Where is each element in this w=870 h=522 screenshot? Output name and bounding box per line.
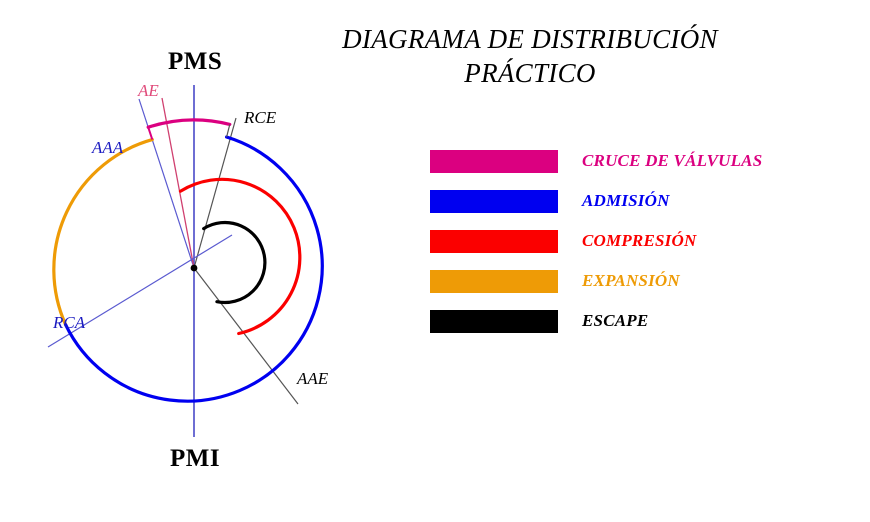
label-rca: RCA: [53, 313, 85, 333]
legend-row: ESCAPE: [430, 310, 830, 350]
label-rce: RCE: [244, 108, 276, 128]
legend-swatch-expansion: [430, 270, 558, 293]
legend-label-compresion: COMPRESIÓN: [582, 229, 696, 252]
legend-label-admision: ADMISIÓN: [582, 189, 670, 212]
label-ae: AE: [138, 81, 159, 101]
legend-swatch-cruce-de-valvulas: [430, 150, 558, 173]
legend-swatch-admision: [430, 190, 558, 213]
legend-row: CRUCE DE VÁLVULAS: [430, 150, 830, 190]
legend-label-expansion: EXPANSIÓN: [582, 269, 680, 292]
diagram-page: DIAGRAMA DE DISTRIBUCIÓN PRÁCTICO: [0, 0, 870, 522]
aae-line: [194, 268, 298, 404]
legend-label-cruce-de-valvulas: CRUCE DE VÁLVULAS: [582, 149, 762, 172]
label-aae: AAE: [297, 369, 328, 389]
legend-row: COMPRESIÓN: [430, 230, 830, 270]
center-point: [191, 265, 198, 272]
arc-tick-marks: [148, 124, 230, 139]
legend-label-escape: ESCAPE: [582, 309, 648, 332]
radial-lines: [48, 85, 298, 437]
valve-timing-diagram: [0, 0, 430, 522]
rce-tick: [227, 124, 230, 137]
label-pmi: PMI: [170, 445, 220, 473]
legend-row: EXPANSIÓN: [430, 270, 830, 310]
expansion-arc: [54, 140, 152, 325]
label-aaa: AAA: [92, 138, 123, 158]
legend: CRUCE DE VÁLVULAS ADMISIÓN COMPRESIÓN EX…: [430, 150, 830, 350]
legend-swatch-compresion: [430, 230, 558, 253]
aaa-tick: [148, 127, 152, 139]
escape-arc: [204, 223, 265, 303]
label-pms: PMS: [168, 48, 222, 76]
compresion-arc: [181, 179, 300, 333]
legend-swatch-escape: [430, 310, 558, 333]
legend-row: ADMISIÓN: [430, 190, 830, 230]
cruce-de-valvulas-arc: [148, 120, 230, 127]
